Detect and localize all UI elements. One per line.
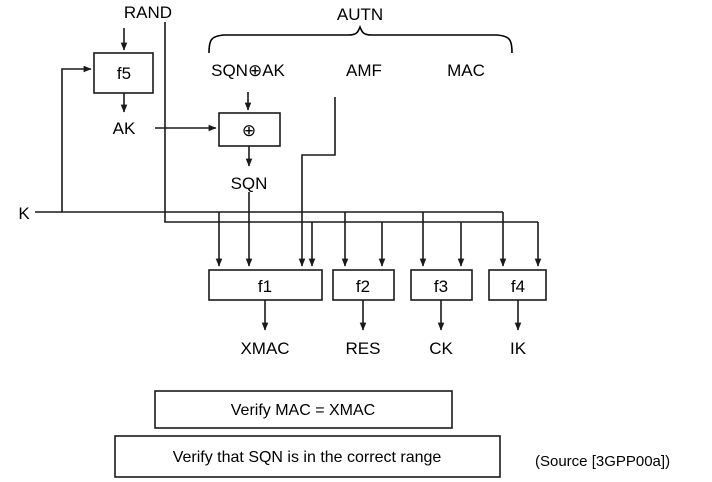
autn-label: AUTN: [337, 5, 383, 24]
input-label-k: K: [18, 204, 30, 223]
intermediate-label-sqn: SQN: [231, 174, 268, 193]
autn-brace: [209, 27, 512, 53]
source-note: (Source [3GPP00a]): [535, 453, 670, 470]
aka-diagram-svg: AUTN SQN⊕AK AMF MAC RAND K AK SQN f5 ⊕ f…: [0, 0, 712, 482]
function-label-f5: f5: [117, 64, 131, 83]
output-label-xmac: XMAC: [240, 339, 289, 358]
output-label-ck: CK: [429, 339, 453, 358]
input-label-rand: RAND: [124, 3, 172, 22]
field-label-mac: MAC: [447, 61, 485, 80]
output-label-ik: IK: [510, 339, 527, 358]
field-label-sqn-xor-ak: SQN⊕AK: [211, 61, 285, 80]
function-label-xor: ⊕: [242, 121, 256, 140]
wire-amf-to-f1: [302, 97, 335, 266]
output-label-res: RES: [346, 339, 381, 358]
function-label-f1: f1: [258, 277, 272, 296]
check-label-verify-mac: Verify MAC = XMAC: [231, 402, 375, 419]
function-label-f3: f3: [434, 277, 448, 296]
diagram-canvas: AUTN SQN⊕AK AMF MAC RAND K AK SQN f5 ⊕ f…: [0, 0, 712, 482]
field-label-amf: AMF: [346, 61, 382, 80]
function-label-f4: f4: [511, 277, 525, 296]
intermediate-label-ak: AK: [113, 119, 136, 138]
wire-k-to-f5: [62, 69, 91, 212]
check-label-verify-sqn: Verify that SQN is in the correct range: [173, 449, 442, 466]
function-label-f2: f2: [356, 277, 370, 296]
